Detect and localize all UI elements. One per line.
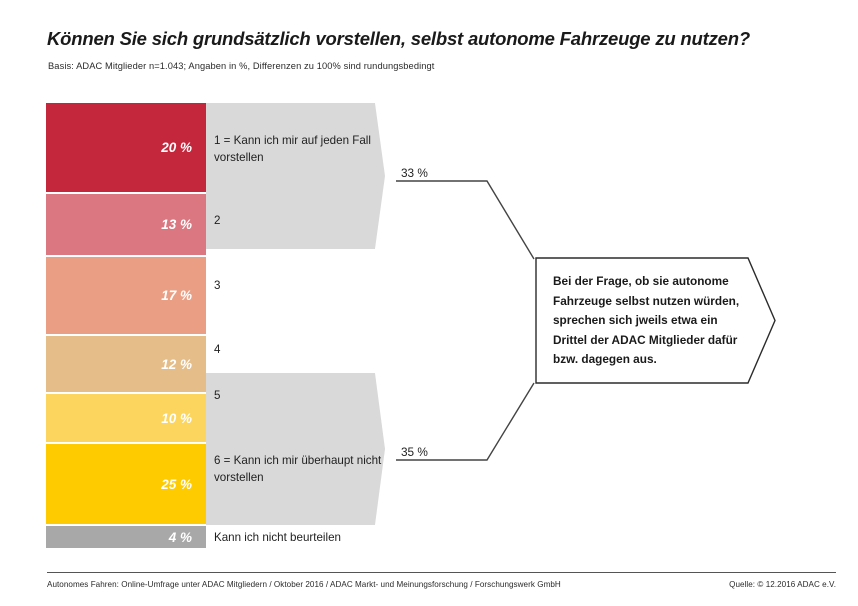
page-title: Können Sie sich grundsätzlich vorstellen…: [47, 28, 837, 50]
category-label-3: 3: [214, 278, 384, 295]
bar-value-label: 10 %: [161, 412, 192, 426]
bar-segment[interactable]: 13 %: [46, 194, 206, 257]
bar-value-label: 13 %: [161, 218, 192, 232]
category-label-1: 1 = Kann ich mir auf jeden Fall vorstell…: [214, 133, 384, 166]
bar-value-label: 12 %: [161, 358, 192, 372]
footer-source-note: Autonomes Fahren: Online-Umfrage unter A…: [47, 580, 561, 589]
category-label-no-opinion: Kann ich nicht beurteilen: [214, 530, 384, 547]
category-label-6: 6 = Kann ich mir überhaupt nicht vorstel…: [214, 453, 384, 486]
category-label-2: 2: [214, 213, 384, 230]
category-label-5: 5: [214, 388, 384, 405]
bar-value-label: 4 %: [169, 531, 192, 545]
bar-value-label: 20 %: [161, 141, 192, 155]
bar-segment[interactable]: 4 %: [46, 526, 206, 548]
annotation-35-percent: 35 %: [401, 445, 428, 459]
footer-divider: [47, 572, 836, 573]
bar-segment[interactable]: 25 %: [46, 444, 206, 526]
bar-segment[interactable]: 10 %: [46, 394, 206, 444]
footer-copyright: Quelle: © 12.2016 ADAC e.V.: [729, 580, 836, 589]
annotation-33-percent: 33 %: [401, 166, 428, 180]
callout-box: Bei der Frage, ob sie autonome Fahrzeuge…: [535, 257, 777, 384]
bar-segment[interactable]: 20 %: [46, 103, 206, 194]
bar-value-label: 25 %: [161, 478, 192, 492]
page-subtitle: Basis: ADAC Mitglieder n=1.043; Angaben …: [48, 61, 435, 71]
infographic-canvas: Können Sie sich grundsätzlich vorstellen…: [0, 0, 858, 606]
bar-segment[interactable]: 17 %: [46, 257, 206, 336]
bar-value-label: 17 %: [161, 289, 192, 303]
bar-segment[interactable]: 12 %: [46, 336, 206, 394]
callout-text: Bei der Frage, ob sie autonome Fahrzeuge…: [553, 272, 753, 370]
stacked-bar-chart: 20 % 13 % 17 % 12 % 10 % 25 % 4 %: [46, 103, 206, 551]
category-label-4: 4: [214, 342, 384, 359]
